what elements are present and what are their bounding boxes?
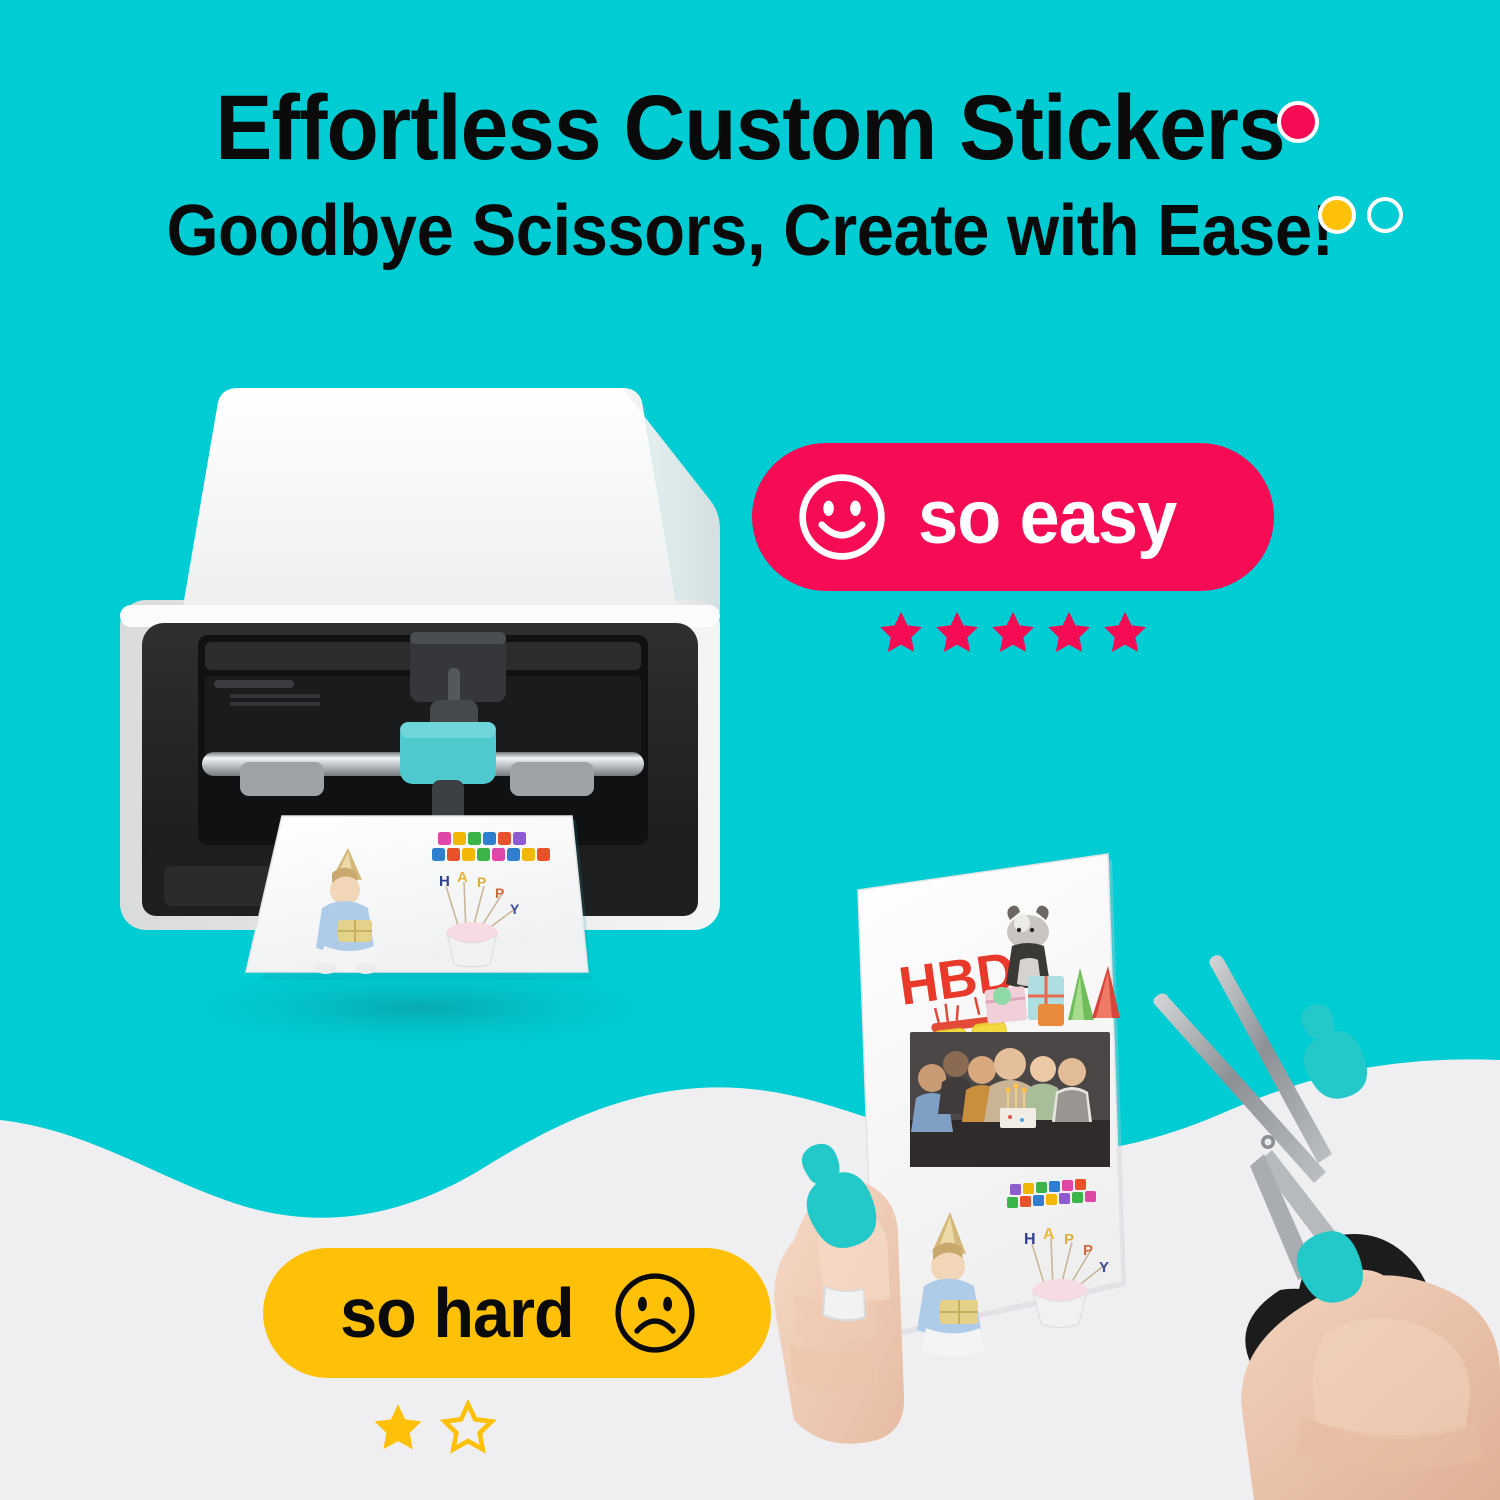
svg-text:P: P [477, 874, 486, 890]
kids-birthday-cake-photo-sticker [910, 1032, 1110, 1167]
poster-canvas: Effortless Custom Stickers Goodbye Sciss… [0, 0, 1500, 1500]
yellow-dot-icon [1318, 196, 1356, 234]
scissor-blade-lower [1153, 994, 1326, 1183]
so-easy-label: so easy [918, 474, 1176, 561]
svg-text:A: A [1043, 1226, 1055, 1243]
sweat-drop-large-right [1304, 1031, 1367, 1099]
svg-text:P: P [1083, 1242, 1093, 1259]
svg-text:P: P [1064, 1231, 1074, 1248]
so-easy-badge[interactable]: so easy [752, 443, 1274, 591]
star-filled-icon [876, 608, 926, 658]
sad-face-icon [610, 1268, 700, 1358]
star-filled-icon [370, 1400, 426, 1456]
svg-text:A: A [457, 869, 468, 886]
so-hard-label: so hard [340, 1273, 574, 1353]
star-filled-icon [988, 608, 1038, 658]
star-filled-icon [932, 608, 982, 658]
star-filled-icon [1044, 608, 1094, 658]
so-hard-rating [370, 1400, 496, 1456]
printed-sticker-sheet: H A P P Y [246, 816, 592, 980]
page-title: Effortless Custom Stickers [53, 82, 1448, 176]
star-outline-icon [440, 1400, 496, 1456]
svg-text:H: H [439, 873, 450, 890]
pink-dot-icon [1277, 101, 1319, 143]
svg-text:Y: Y [1099, 1259, 1109, 1276]
photo-scene: HBD [760, 820, 1500, 1500]
svg-text:H: H [1024, 1231, 1036, 1248]
sticker-cutting-machine: H A P P Y [110, 380, 750, 1060]
headline-block: Effortless Custom Stickers Goodbye Sciss… [0, 82, 1500, 269]
star-filled-icon [1100, 608, 1150, 658]
smiley-face-icon [794, 469, 890, 565]
white-outline-dot-icon [1367, 197, 1403, 233]
so-easy-rating [876, 608, 1156, 658]
so-hard-badge[interactable]: so hard [263, 1248, 771, 1378]
page-subtitle: Goodbye Scissors, Create with Ease! [53, 194, 1448, 270]
svg-text:P: P [495, 885, 504, 901]
svg-text:Y: Y [510, 901, 520, 917]
